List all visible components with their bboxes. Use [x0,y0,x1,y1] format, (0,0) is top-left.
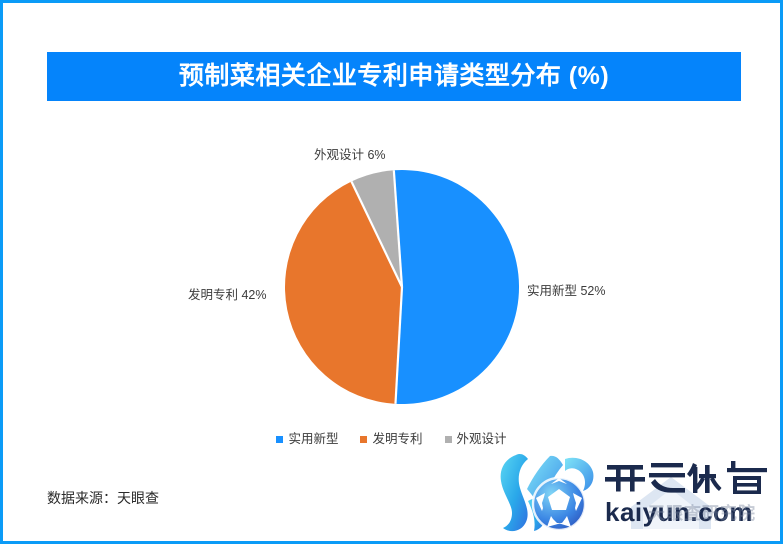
legend-label: 外观设计 [457,433,507,446]
data-source-note: 数据来源：天眼查 [47,491,159,505]
legend-swatch-icon [276,436,283,443]
slice-label-invention: 发明专利 42% [188,289,267,302]
institute-watermark-text: 天眼查研究院 [648,505,756,522]
title-banner: 预制菜相关企业专利申请类型分布 (%) [47,52,741,101]
pie-svg [284,169,520,405]
kaiyun-cn-wordmark-icon [605,455,777,501]
slice-label-utility: 实用新型 52% [527,285,606,298]
pie-slice-utility[interactable] [394,170,519,404]
legend-label: 发明专利 [372,433,422,446]
legend-swatch-icon [445,436,452,443]
pie-graphic [284,169,520,405]
infographic-page: 预制菜相关企业专利申请类型分布 (%) 外观设计 6% 实用新型 52% 发 [0,0,783,544]
pie-chart: 外观设计 6% 实用新型 52% 发明专利 42% 实用新型 发明专利 外观设计 [3,113,780,453]
legend-label: 实用新型 [288,433,338,446]
brand-watermark: kaiyun.com 天眼查研究院 [495,447,775,539]
slice-label-design: 外观设计 6% [314,149,386,162]
legend-item-invention[interactable]: 发明专利 [360,433,422,446]
legend-item-design[interactable]: 外观设计 [445,433,507,446]
page-title: 预制菜相关企业专利申请类型分布 (%) [179,64,609,89]
legend-item-utility[interactable]: 实用新型 [276,433,338,446]
kaiyun-k-football-logo-icon [495,449,600,537]
chart-legend: 实用新型 发明专利 外观设计 [3,433,780,446]
legend-swatch-icon [360,436,367,443]
